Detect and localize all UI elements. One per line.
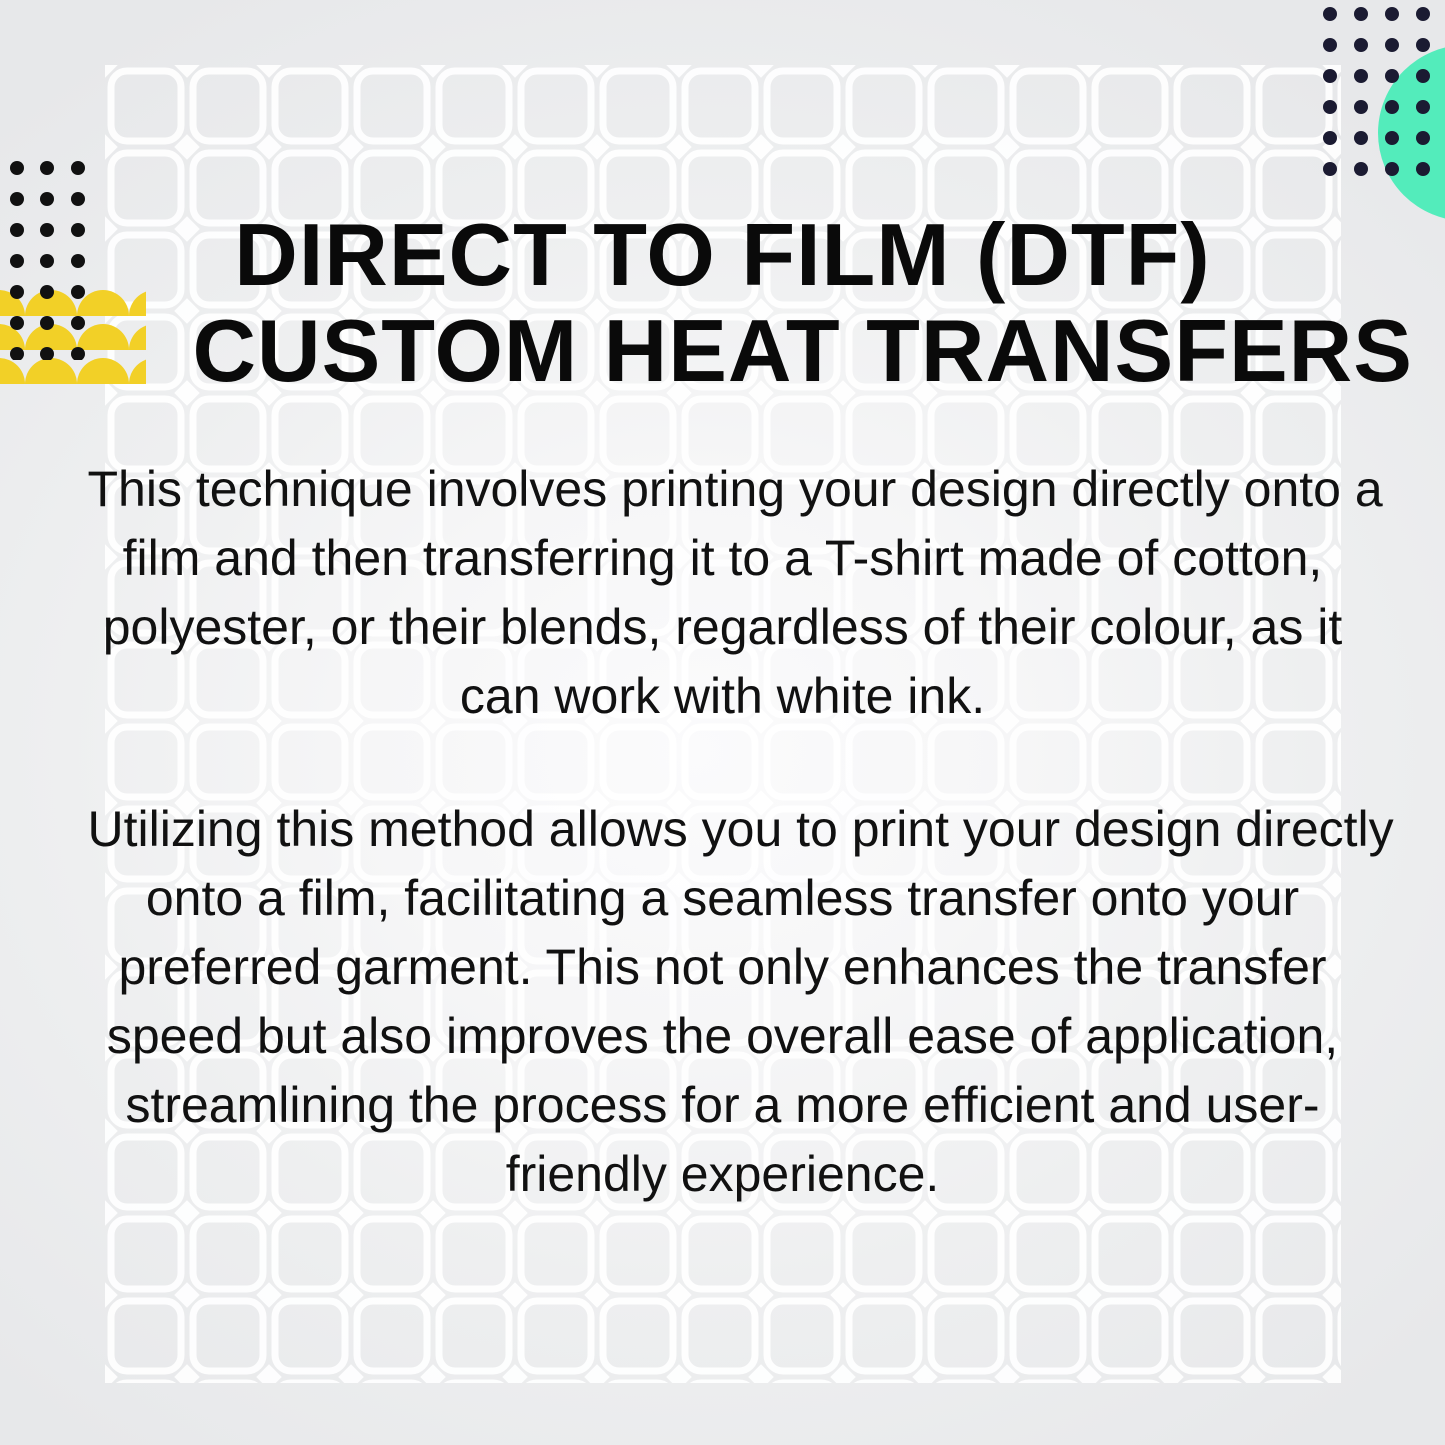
paragraph-1-line-4: can work with white ink. (88, 662, 1358, 731)
paragraph-2-line-6: friendly experience. (88, 1140, 1358, 1209)
page-title: DIRECT TO FILM (DTF) CUSTOM HEAT TRANSFE… (193, 207, 1253, 399)
page-title-line-2: CUSTOM HEAT TRANSFERS (193, 303, 1253, 399)
paragraph-1-line-3: polyester, or their blends, regardless o… (88, 593, 1358, 662)
paragraph-2-line-3: preferred garment. This not only enhance… (88, 933, 1358, 1002)
paragraph-2-line-5: streamlining the process for a more effi… (88, 1071, 1358, 1140)
paragraph-2-line-4: speed but also improves the overall ease… (88, 1002, 1358, 1071)
paragraph-2-line-1: Utilizing this method allows you to prin… (88, 795, 1358, 864)
paragraph-2-line-2: onto a film, facilitating a seamless tra… (88, 864, 1358, 933)
page-title-line-1: DIRECT TO FILM (DTF) (193, 207, 1253, 303)
content-layer: DIRECT TO FILM (DTF) CUSTOM HEAT TRANSFE… (0, 0, 1445, 1445)
paragraph-1-line-1: This technique involves printing your de… (88, 455, 1358, 524)
paragraph-1: This technique involves printing your de… (88, 455, 1358, 731)
poster-canvas: DIRECT TO FILM (DTF) CUSTOM HEAT TRANSFE… (0, 0, 1445, 1445)
paragraph-1-line-2: film and then transferring it to a T-shi… (88, 524, 1358, 593)
paragraph-2: Utilizing this method allows you to prin… (88, 795, 1358, 1209)
